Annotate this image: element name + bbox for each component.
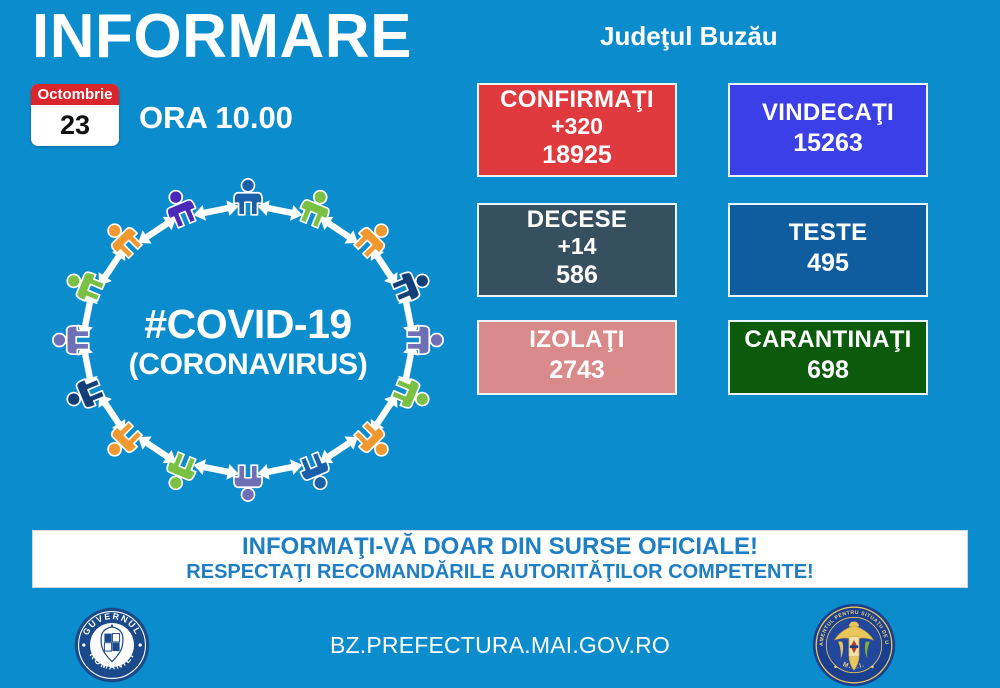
infographic-canvas: INFORMARE Judeţul Buzău Octombrie 23 ORA… [0, 0, 1000, 688]
stat-box-teste: TESTE 495 [728, 203, 928, 297]
stat-box-decese: DECESE +14 586 [477, 203, 677, 297]
arrow-icon [256, 457, 304, 482]
stat-box-vindecati: VINDECAŢI 15263 [728, 83, 928, 177]
stat-total: 18925 [542, 139, 612, 173]
people-circle-illustration [28, 170, 468, 510]
advice-banner: INFORMAŢI-VĂ DOAR DIN SURSE OFICIALE! RE… [32, 530, 968, 588]
person-icon [234, 179, 262, 215]
calendar-month: Octombrie [31, 84, 119, 105]
hour-label: ORA 10.00 [139, 100, 293, 136]
stat-label: VINDECAŢI [762, 100, 894, 127]
stat-total: 698 [807, 354, 849, 388]
stat-total: 586 [556, 259, 598, 293]
page-title: INFORMARE [32, 4, 412, 69]
person-icon [53, 326, 89, 354]
stat-delta: +14 [557, 234, 596, 260]
covid-circle-graphic: #COVID-19 (CORONAVIRUS) [28, 170, 468, 510]
stat-label: TESTE [789, 220, 868, 247]
calendar-day: 23 [31, 105, 119, 146]
dsu-mai-logo-icon: DEPARTAMENTUL PENTRU SITUAŢII DE URGENŢĂ… [812, 603, 896, 687]
guvernul-romaniei-logo-icon: GUVERNUL ROMÂNIEI [74, 607, 150, 683]
person-icon [62, 375, 106, 415]
stat-box-izolati: IZOLAŢI 2743 [477, 320, 677, 395]
advice-line-2: RESPECTAŢI RECOMANDĂRILE AUTORITĂŢILOR C… [186, 561, 813, 585]
stat-delta: +320 [551, 114, 603, 140]
stat-box-carantinati: CARANTINAŢI 698 [728, 320, 928, 395]
stat-label: CONFIRMAŢI [500, 87, 654, 114]
person-icon [390, 375, 434, 415]
stat-label: DECESE [527, 207, 628, 234]
stat-label: CARANTINAŢI [744, 327, 911, 354]
person-icon [407, 326, 443, 354]
stat-total: 495 [807, 247, 849, 281]
county-title: Judeţul Buzău [600, 21, 778, 52]
person-icon [62, 265, 106, 305]
stat-label: IZOLAŢI [529, 327, 624, 354]
stat-box-confirmati: CONFIRMAŢI +320 18925 [477, 83, 677, 177]
stat-total: 15263 [793, 127, 863, 161]
advice-line-1: INFORMAŢI-VĂ DOAR DIN SURSE OFICIALE! [242, 534, 758, 561]
person-icon [390, 265, 434, 305]
stat-total: 2743 [549, 354, 605, 388]
person-icon [234, 465, 262, 501]
arrow-icon [192, 198, 240, 223]
calendar-widget: Octombrie 23 [31, 84, 119, 146]
